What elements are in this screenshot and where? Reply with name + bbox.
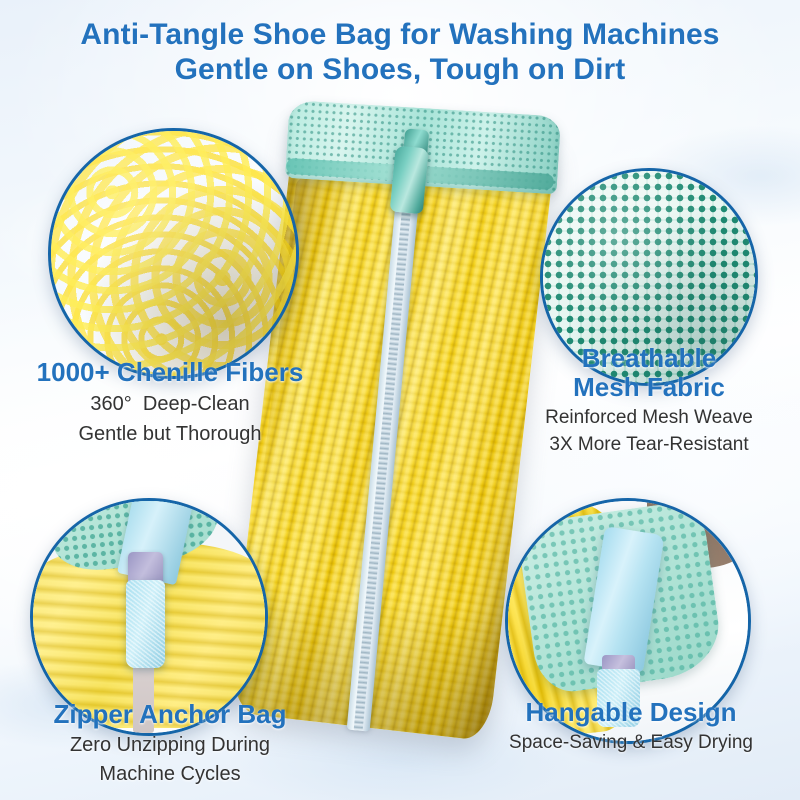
deep-clean-label: Deep-Clean (143, 393, 250, 415)
degree-symbol: ° (124, 393, 132, 415)
feature-sub-anchor-line-2: Machine Cycles (0, 762, 340, 786)
feature-text-zipper-anchor: Zipper Anchor Bag Zero Unzipping During … (0, 700, 340, 786)
feature-text-chenille-fibers: 1000+ Chenille Fibers 360° Deep-Clean Ge… (0, 358, 340, 446)
feature-text-hangable-design: Hangable Design Space-Saving & Easy Dryi… (462, 698, 800, 754)
feature-title-chenille-fibers: 1000+ Chenille Fibers (0, 358, 340, 387)
feature-title-zipper-anchor: Zipper Anchor Bag (0, 700, 340, 729)
feature-sub-chenille-line-1: 360° Deep-Clean (0, 392, 340, 416)
feature-sub-hangable-line-1: Space-Saving & Easy Drying (462, 731, 800, 754)
anchor-pocket (126, 580, 165, 668)
callout-circle-chenille-fibers (48, 128, 299, 379)
headline-line-2: Gentle on Shoes, Tough on Dirt (0, 53, 800, 88)
feature-sub-mesh-line-2: 3X More Tear-Resistant (498, 433, 800, 456)
product-infographic-poster: Anti-Tangle Shoe Bag for Washing Machine… (0, 0, 800, 800)
feature-text-breathable-mesh: Breathable Mesh Fabric Reinforced Mesh W… (498, 344, 800, 457)
deep-clean-angle-value: 360 (90, 393, 123, 415)
zipper-slider (390, 145, 429, 214)
feature-title-mesh-line-2: Mesh Fabric (498, 373, 800, 402)
feature-title-mesh-line-1: Breathable (498, 344, 800, 373)
feature-sub-anchor-line-1: Zero Unzipping During (0, 733, 340, 757)
feature-title-hangable-design: Hangable Design (462, 698, 800, 727)
feature-sub-mesh-line-1: Reinforced Mesh Weave (498, 406, 800, 429)
headline-line-1: Anti-Tangle Shoe Bag for Washing Machine… (0, 18, 800, 53)
headline-block: Anti-Tangle Shoe Bag for Washing Machine… (0, 18, 800, 88)
feature-sub-chenille-line-2: Gentle but Thorough (0, 422, 340, 446)
chenille-shading (51, 131, 296, 376)
